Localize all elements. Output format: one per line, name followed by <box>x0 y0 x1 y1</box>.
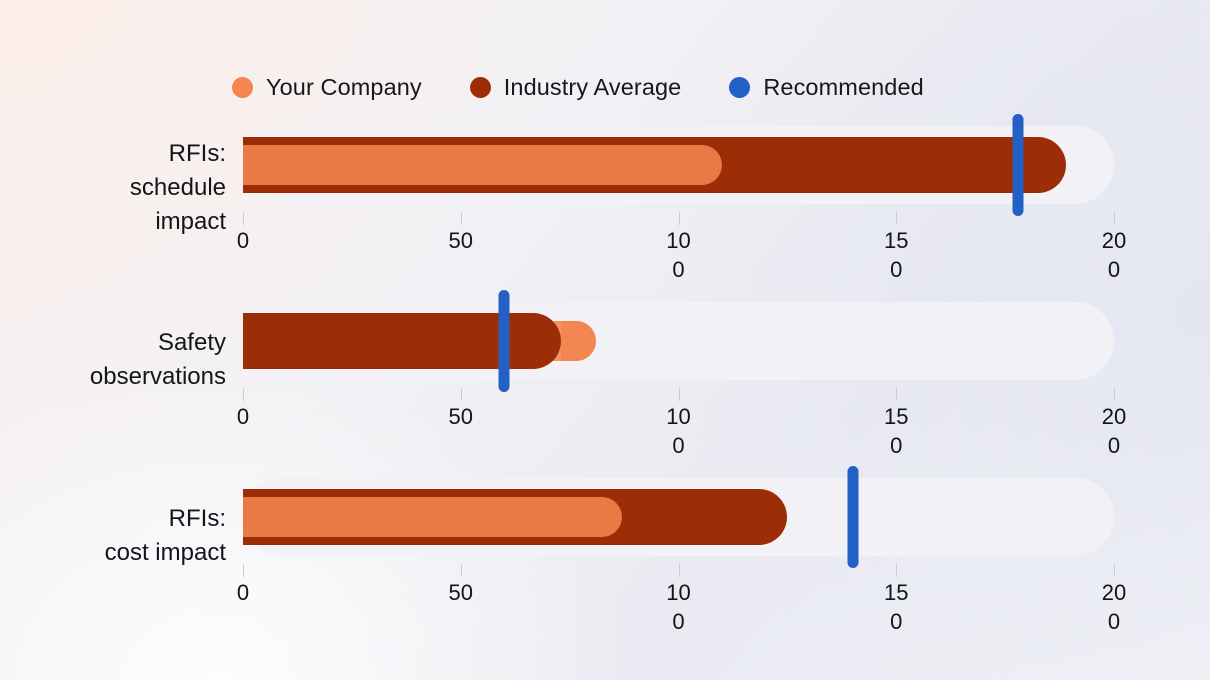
legend-label: Industry Average <box>504 74 682 101</box>
legend-label: Recommended <box>763 74 923 101</box>
bar-your-company[interactable] <box>243 145 722 185</box>
row-label-line: schedule <box>18 171 226 205</box>
axis-tick-label: 0 <box>226 402 260 431</box>
axis-tick-mark <box>461 212 462 225</box>
axis-tick-mark <box>1114 564 1115 577</box>
axis-tick-label: 200 <box>1097 226 1131 284</box>
row-axis: 050100150200 <box>243 388 1114 452</box>
axis-tick-label: 50 <box>444 226 478 255</box>
axis-tick-mark <box>896 388 897 401</box>
row-label-line: RFIs: <box>18 502 226 536</box>
row-label-line: impact <box>18 205 226 239</box>
axis-tick-label: 150 <box>879 578 913 636</box>
axis-tick-label: 100 <box>662 578 696 636</box>
row-label-line: Safety <box>18 326 226 360</box>
axis-tick-mark <box>896 212 897 225</box>
axis-tick-mark <box>243 212 244 225</box>
axis-tick-mark <box>461 388 462 401</box>
axis-tick-mark <box>679 212 680 225</box>
row-axis: 050100150200 <box>243 212 1114 276</box>
axis-tick-mark <box>1114 388 1115 401</box>
axis-tick-label: 0 <box>226 578 260 607</box>
axis-tick-label: 0 <box>226 226 260 255</box>
axis-tick-mark <box>243 388 244 401</box>
row-label: Safetyobservations <box>18 326 226 394</box>
legend-label: Your Company <box>266 74 422 101</box>
bar-industry-average[interactable] <box>243 313 561 369</box>
marker-recommended[interactable] <box>499 290 510 392</box>
legend-item-your-company[interactable]: Your Company <box>232 74 422 101</box>
row-label-line: RFIs: <box>18 137 226 171</box>
axis-tick-label: 50 <box>444 578 478 607</box>
row-axis: 050100150200 <box>243 564 1114 628</box>
row-label: RFIs:cost impact <box>18 502 226 570</box>
legend-dot-icon <box>232 77 253 98</box>
marker-recommended[interactable] <box>1013 114 1024 216</box>
chart-canvas: Your Company Industry Average Recommende… <box>0 0 1210 680</box>
axis-tick-label: 100 <box>662 226 696 284</box>
axis-tick-mark <box>679 388 680 401</box>
axis-tick-label: 150 <box>879 402 913 460</box>
axis-tick-label: 200 <box>1097 402 1131 460</box>
axis-tick-mark <box>896 564 897 577</box>
marker-recommended[interactable] <box>847 466 858 568</box>
axis-tick-label: 150 <box>879 226 913 284</box>
axis-tick-label: 50 <box>444 402 478 431</box>
axis-tick-mark <box>461 564 462 577</box>
axis-tick-mark <box>243 564 244 577</box>
bar-your-company[interactable] <box>243 497 622 537</box>
axis-tick-mark <box>1114 212 1115 225</box>
row-label: RFIs:scheduleimpact <box>18 137 226 239</box>
row-label-line: cost impact <box>18 536 226 570</box>
axis-tick-mark <box>679 564 680 577</box>
axis-tick-label: 100 <box>662 402 696 460</box>
legend-item-industry-average[interactable]: Industry Average <box>470 74 682 101</box>
row-label-line: observations <box>18 360 226 394</box>
legend-item-recommended[interactable]: Recommended <box>729 74 923 101</box>
legend-dot-icon <box>729 77 750 98</box>
chart-legend: Your Company Industry Average Recommende… <box>232 68 924 106</box>
legend-dot-icon <box>470 77 491 98</box>
axis-tick-label: 200 <box>1097 578 1131 636</box>
